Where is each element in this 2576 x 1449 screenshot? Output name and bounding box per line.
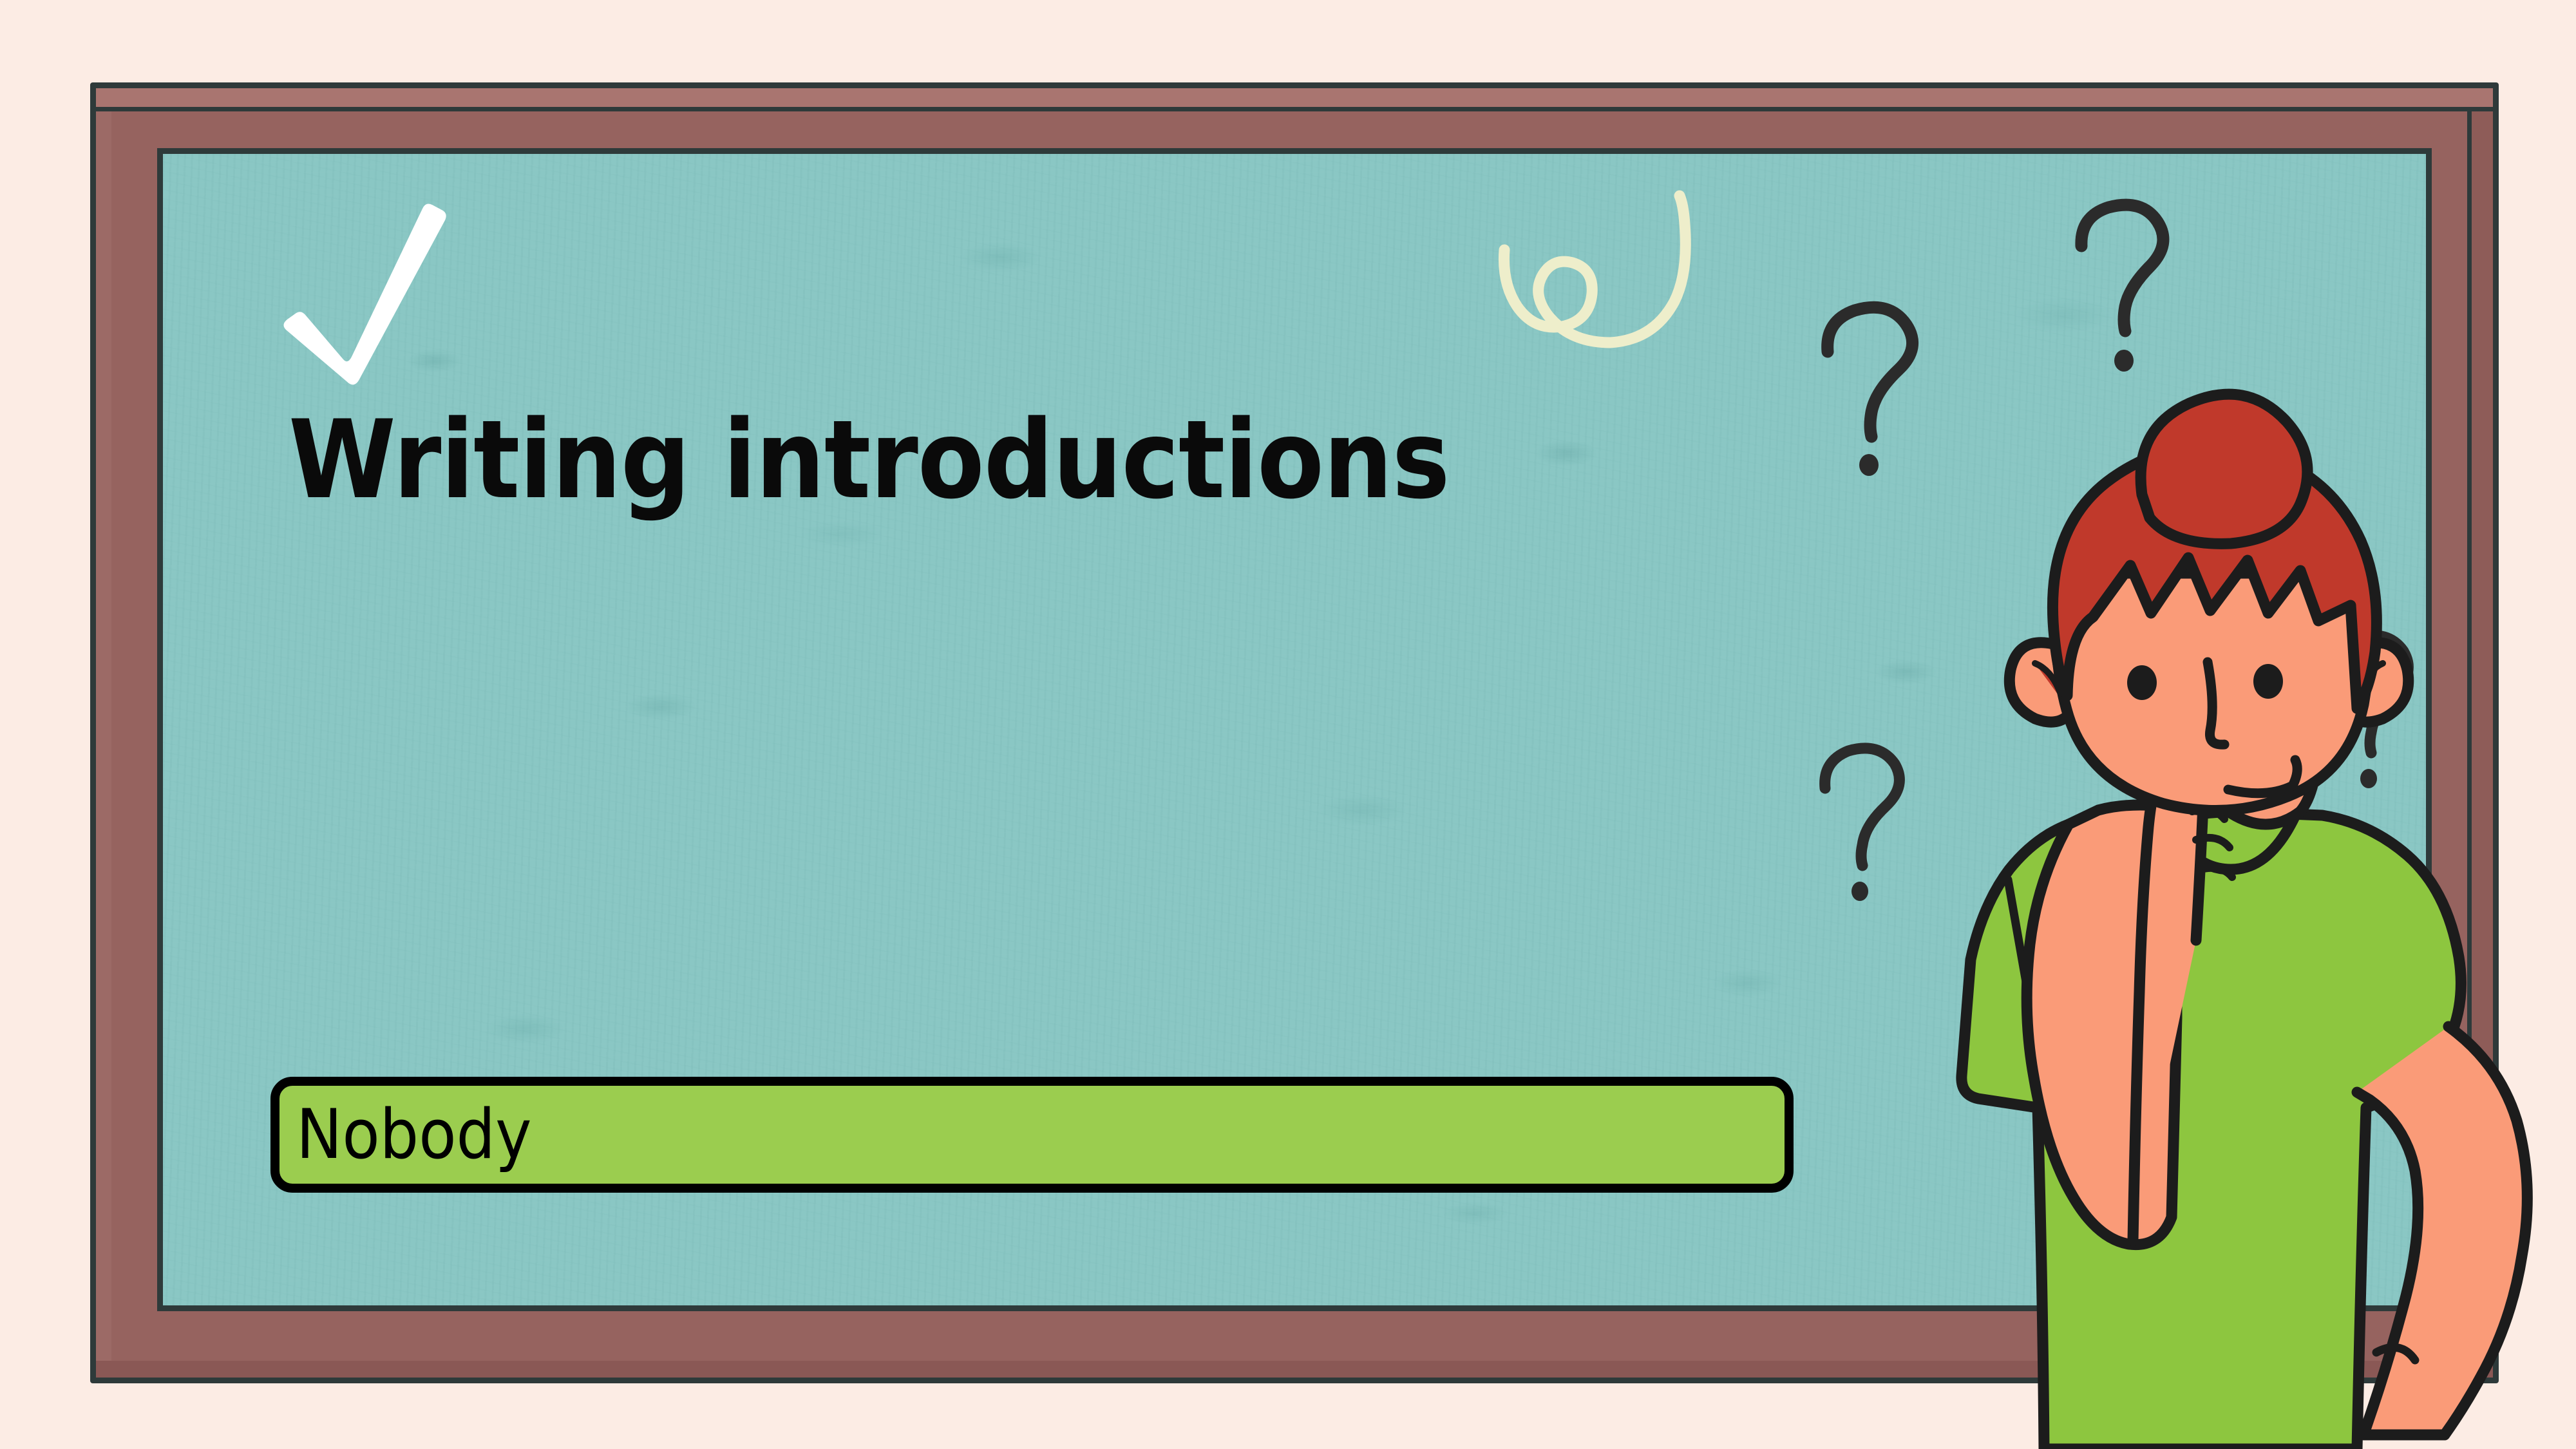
frame-bevel-top: [96, 88, 2493, 111]
slide-canvas: Writing introductions: [0, 0, 2576, 1449]
loop-squiggle-icon: [1481, 187, 1700, 354]
answer-input[interactable]: Nobody: [270, 1077, 1794, 1193]
thinking-student-illustration: [1777, 361, 2576, 1449]
page-title: Writing introductions: [289, 406, 1450, 514]
frame-bevel-left: [96, 88, 111, 1378]
check-icon: [277, 193, 457, 386]
question-mark-top-right: [2061, 193, 2190, 380]
answer-input-value: Nobody: [296, 1101, 532, 1169]
